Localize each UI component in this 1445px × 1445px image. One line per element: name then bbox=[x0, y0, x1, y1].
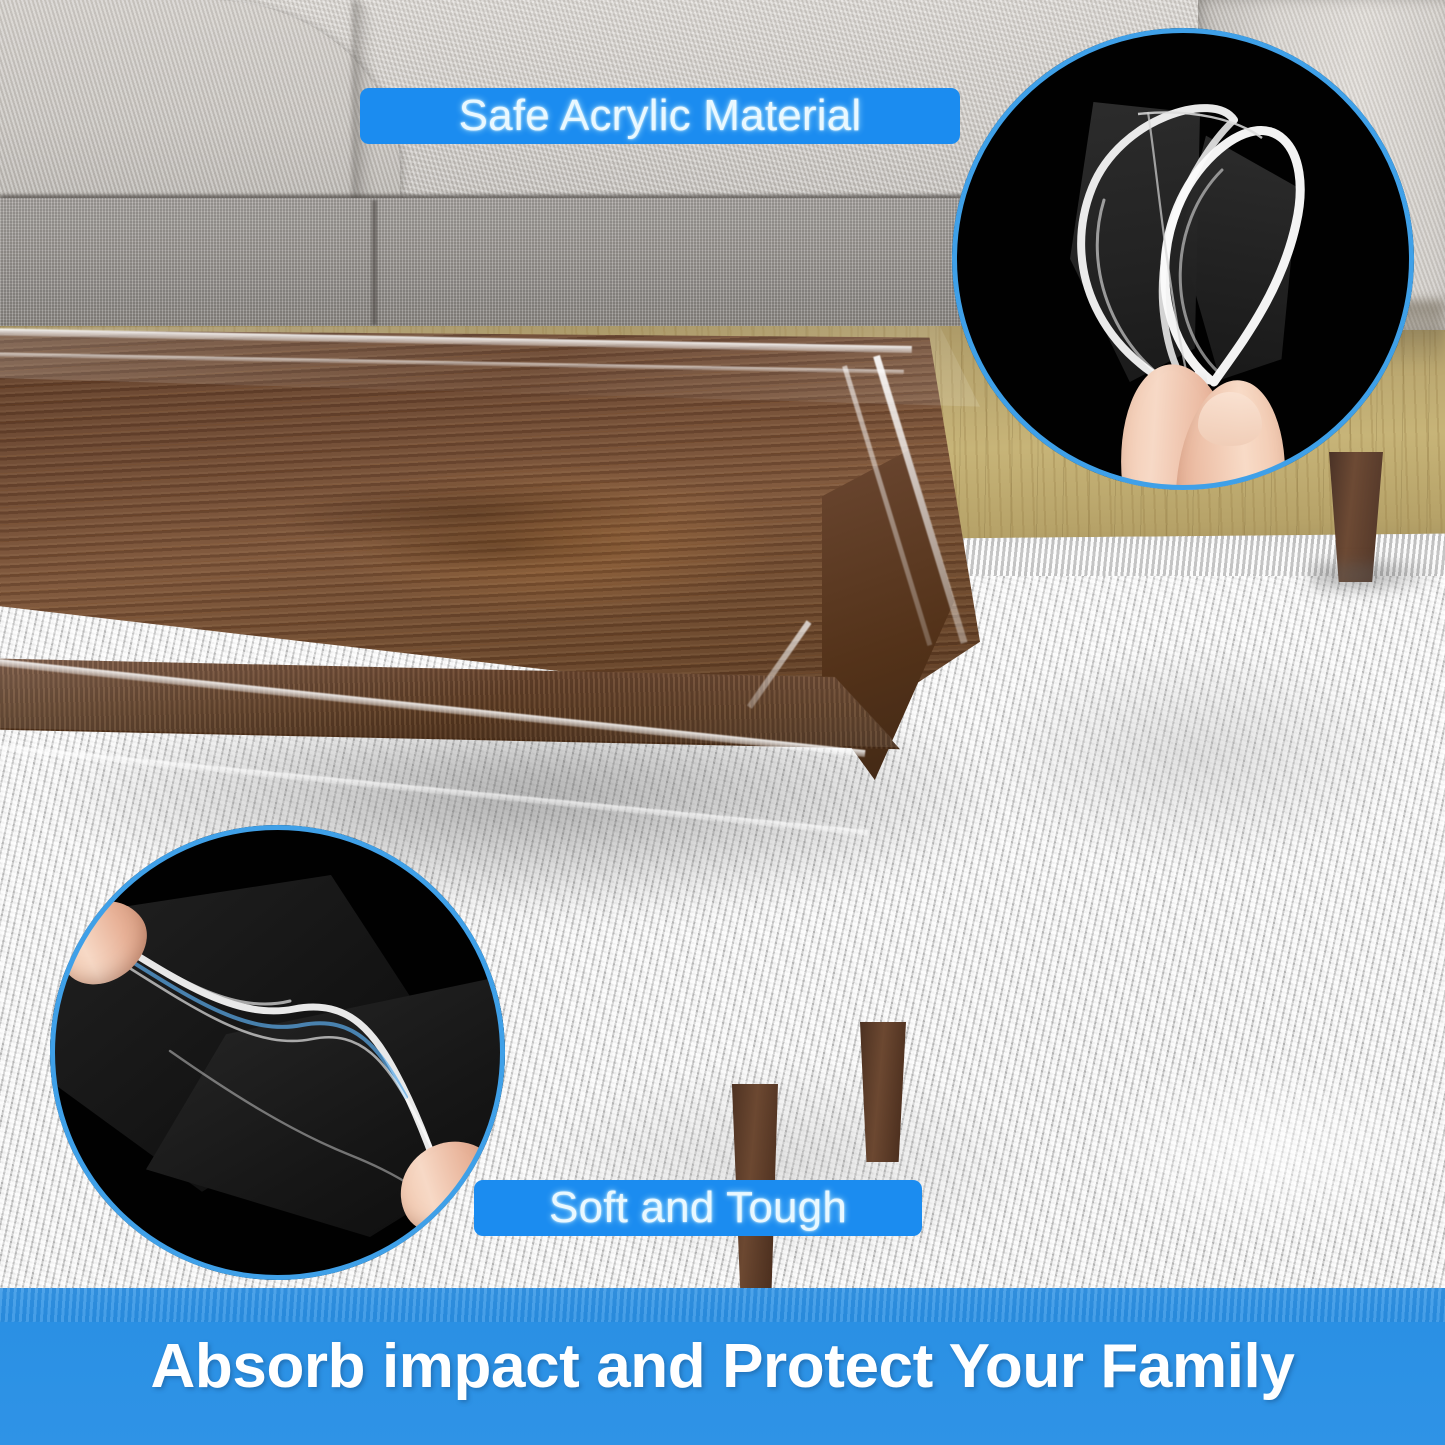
banner-headline: Absorb impact and Protect Your Family bbox=[151, 1331, 1295, 1402]
table-wood-grain bbox=[188, 421, 812, 624]
coffee-table-leg-back bbox=[860, 1022, 906, 1162]
feature-label-bottom: Soft and Tough bbox=[474, 1180, 922, 1236]
bottom-banner: Absorb impact and Protect Your Family bbox=[0, 1288, 1445, 1445]
feature-label-top: Safe Acrylic Material bbox=[360, 88, 960, 144]
sofa-skirt-seam bbox=[372, 200, 377, 325]
acrylic-flexibility-closeup bbox=[952, 28, 1414, 490]
product-feature-image: Safe Acrylic Material Soft and Tough Abs… bbox=[0, 0, 1445, 1445]
acrylic-softness-closeup bbox=[50, 825, 505, 1280]
walnut-coffee-table bbox=[0, 322, 980, 842]
sofa-leg-shadow bbox=[1310, 560, 1440, 598]
banner-texture-overlay bbox=[0, 1288, 1445, 1322]
clear-acrylic-edge-guard-front-lower bbox=[0, 742, 868, 836]
